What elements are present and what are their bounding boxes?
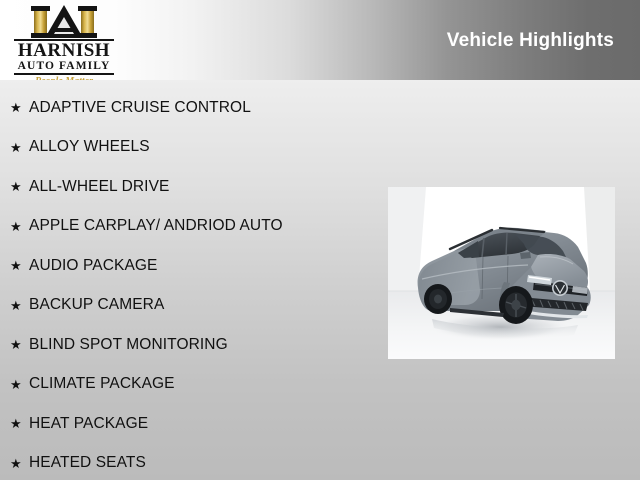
highlight-label: ALLOY WHEELS xyxy=(29,138,150,156)
highlight-item: ★ALLOY WHEELS xyxy=(0,128,380,168)
star-icon: ★ xyxy=(10,417,29,430)
logo-divider-bottom xyxy=(14,73,114,75)
harnish-a-emblem-icon xyxy=(30,6,98,38)
highlight-label: ADAPTIVE CRUISE CONTROL xyxy=(29,99,251,117)
vehicle-highlights-list: ★ADAPTIVE CRUISE CONTROL★ALLOY WHEELS★AL… xyxy=(0,88,380,480)
highlight-item: ★APPLE CARPLAY/ ANDRIOD AUTO xyxy=(0,207,380,247)
highlight-item: ★BACKUP CAMERA xyxy=(0,286,380,326)
highlight-label: CLIMATE PACKAGE xyxy=(29,375,175,393)
highlight-item: ★BLIND SPOT MONITORING xyxy=(0,325,380,365)
star-icon: ★ xyxy=(10,141,29,154)
highlight-item: ★AUDIO PACKAGE xyxy=(0,246,380,286)
highlight-label: ALL-WHEEL DRIVE xyxy=(29,178,169,196)
highlight-item: ★CLIMATE PACKAGE xyxy=(0,365,380,405)
highlight-item: ★ADAPTIVE CRUISE CONTROL xyxy=(0,88,380,128)
highlight-label: HEATED SEATS xyxy=(29,454,146,472)
star-icon: ★ xyxy=(10,101,29,114)
logo-name-secondary: AUTO FAMILY xyxy=(14,60,114,72)
highlight-label: AUDIO PACKAGE xyxy=(29,257,158,275)
star-icon: ★ xyxy=(10,338,29,351)
logo-name-primary: HARNISH xyxy=(14,41,114,60)
highlight-item: ★ALL-WHEEL DRIVE xyxy=(0,167,380,207)
dealer-logo[interactable]: HARNISH AUTO FAMILY People Matter xyxy=(14,6,114,76)
star-icon: ★ xyxy=(10,180,29,193)
vehicle-photo[interactable] xyxy=(388,187,615,359)
star-icon: ★ xyxy=(10,457,29,470)
logo-tagline: People Matter xyxy=(14,76,114,81)
highlight-label: BACKUP CAMERA xyxy=(29,296,164,314)
highlight-item: ★HEATED SEATS xyxy=(0,444,380,480)
star-icon: ★ xyxy=(10,299,29,312)
star-icon: ★ xyxy=(10,220,29,233)
vehicle-photo-illustration xyxy=(388,187,615,359)
highlight-label: APPLE CARPLAY/ ANDRIOD AUTO xyxy=(29,217,283,235)
highlight-label: HEAT PACKAGE xyxy=(29,415,148,433)
star-icon: ★ xyxy=(10,378,29,391)
star-icon: ★ xyxy=(10,259,29,272)
highlight-label: BLIND SPOT MONITORING xyxy=(29,336,228,354)
page-title: Vehicle Highlights xyxy=(447,30,614,52)
header-band: HARNISH AUTO FAMILY People Matter Vehicl… xyxy=(0,0,640,80)
highlight-item: ★HEAT PACKAGE xyxy=(0,404,380,444)
